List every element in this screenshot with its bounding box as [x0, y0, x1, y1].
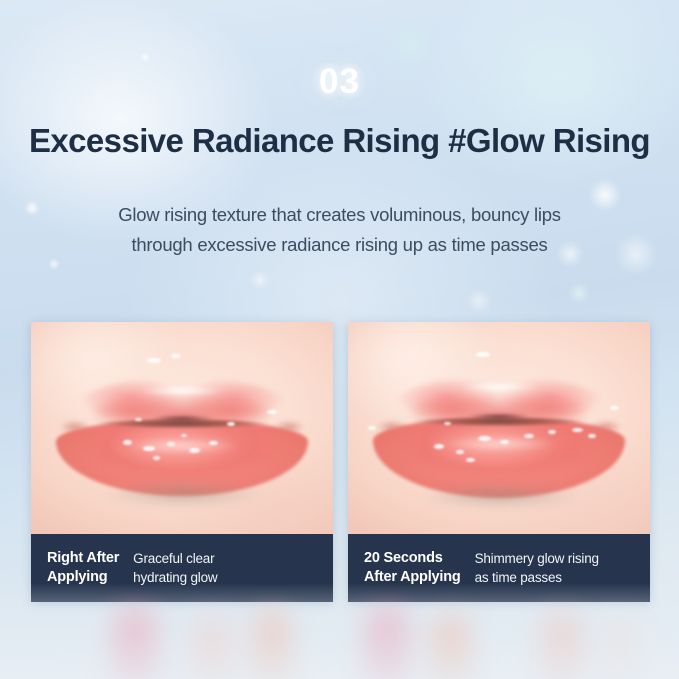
lips-photo-twenty-seconds-after-applying [348, 322, 650, 534]
subtitle-line-2: through excessive radiance rising up as … [0, 230, 679, 260]
gloss-sparkle [147, 358, 161, 363]
caption-description: Shimmery glow rising as time passes [475, 549, 599, 587]
blurred-product-shape [430, 618, 472, 679]
caption-description-line-2: hydrating glow [133, 568, 217, 587]
lower-lip-shadow [394, 484, 604, 514]
caption-description-line-1: Shimmery glow rising [475, 549, 599, 568]
bokeh-circle [250, 270, 270, 290]
upper-lip-gloss [127, 384, 237, 398]
bokeh-circle [568, 282, 590, 304]
bokeh-circle [466, 288, 492, 314]
caption-timing-line-2: Applying [47, 568, 119, 587]
blurred-product-shape [600, 622, 638, 679]
bokeh-circle [140, 52, 150, 62]
caption-timing: Right After Applying [47, 549, 119, 587]
lips-photo-right-after-applying [31, 322, 333, 534]
upper-lip-gloss [444, 380, 554, 394]
blurred-product-shape [112, 612, 158, 679]
blurred-product-shape [364, 612, 410, 679]
page-subtitle: Glow rising texture that creates volumin… [0, 200, 679, 260]
caption-bar-right-after-applying: Right After Applying Graceful clear hydr… [31, 534, 333, 602]
caption-timing-line-1: Right After [47, 549, 119, 568]
caption-timing-line-2: After Applying [364, 568, 461, 587]
caption-description-line-2: as time passes [475, 568, 599, 587]
blurred-product-shape [540, 616, 584, 679]
lower-lip-gloss-band [107, 436, 257, 456]
lower-lip-gloss-band [415, 434, 583, 454]
blurred-product-shape [190, 620, 234, 679]
caption-timing: 20 Seconds After Applying [364, 549, 461, 587]
step-number: 03 [0, 62, 679, 102]
comparison-panel-right-after-applying: Right After Applying Graceful clear hydr… [31, 322, 333, 602]
caption-timing-line-1: 20 Seconds [364, 549, 461, 568]
gloss-sparkle [171, 354, 181, 358]
mouth-line [399, 416, 599, 427]
blurred-product-shape [252, 614, 292, 679]
caption-description-line-1: Graceful clear [133, 549, 217, 568]
caption-description: Graceful clear hydrating glow [133, 549, 217, 587]
subtitle-line-1: Glow rising texture that creates volumin… [0, 200, 679, 230]
lower-lip-shadow [77, 482, 287, 512]
gloss-sparkle [476, 352, 490, 357]
mouth-line [82, 418, 282, 429]
product-detail-page: 03 Excessive Radiance Rising #Glow Risin… [0, 0, 679, 679]
comparison-panel-twenty-seconds-after-applying: 20 Seconds After Applying Shimmery glow … [348, 322, 650, 602]
caption-bar-twenty-seconds-after-applying: 20 Seconds After Applying Shimmery glow … [348, 534, 650, 602]
page-title: Excessive Radiance Rising #Glow Rising [0, 122, 679, 160]
